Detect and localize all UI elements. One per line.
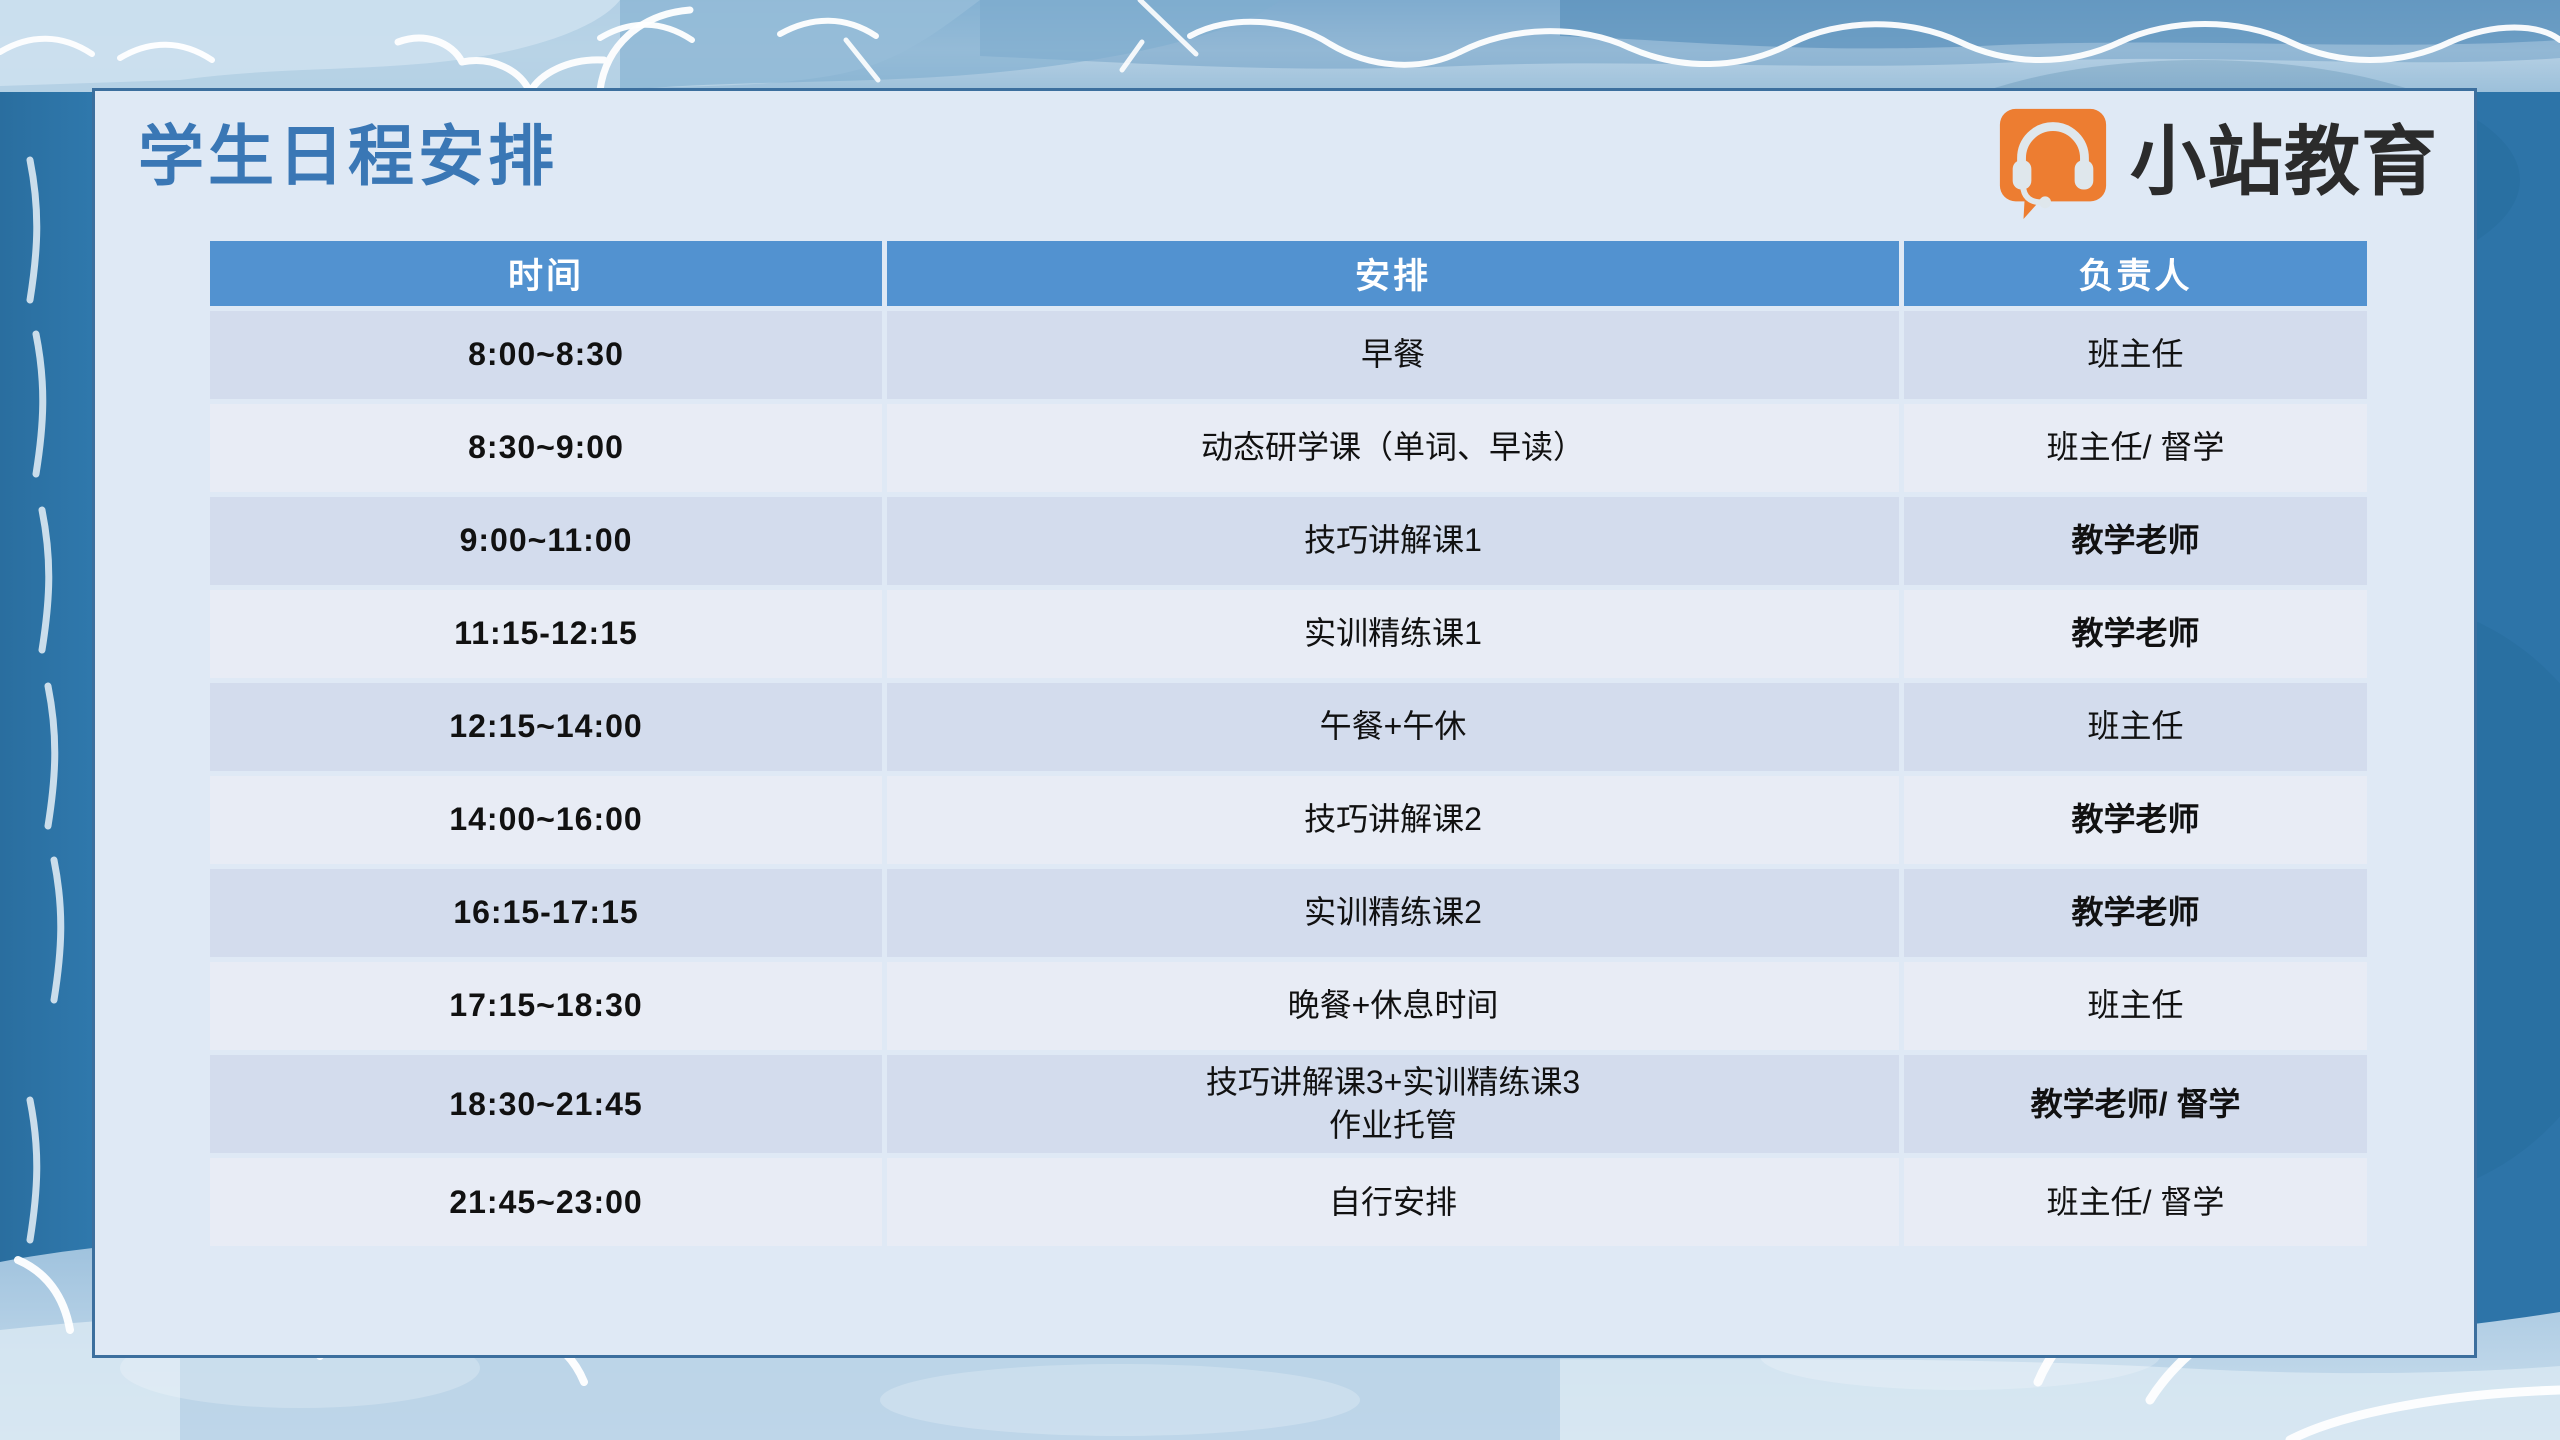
column-header-time: 时间: [210, 241, 882, 306]
cell-time: 14:00~16:00: [210, 776, 882, 864]
card-header: 学生日程安排 小站教育: [95, 91, 2474, 236]
brand-name: 小站教育: [2130, 124, 2438, 200]
cell-time: 8:00~8:30: [210, 311, 882, 399]
page-title: 学生日程安排: [138, 123, 558, 189]
cell-item: 技巧讲解课2: [887, 776, 1899, 864]
table-row: 21:45~23:00自行安排班主任/ 督学: [210, 1158, 2367, 1246]
column-header-item: 安排: [887, 241, 1899, 306]
cell-item: 晚餐+休息时间: [887, 962, 1899, 1050]
table-header-row: 时间 安排 负责人: [210, 241, 2367, 306]
cell-time: 17:15~18:30: [210, 962, 882, 1050]
cell-owner: 教学老师: [1904, 497, 2367, 585]
cell-item: 午餐+午休: [887, 683, 1899, 771]
cell-time: 11:15-12:15: [210, 590, 882, 678]
table-row: 8:00~8:30早餐班主任: [210, 311, 2367, 399]
cell-time: 21:45~23:00: [210, 1158, 882, 1246]
cell-owner: 教学老师: [1904, 590, 2367, 678]
column-header-owner: 负责人: [1904, 241, 2367, 306]
table-row: 9:00~11:00技巧讲解课1教学老师: [210, 497, 2367, 585]
cell-time: 9:00~11:00: [210, 497, 882, 585]
cell-owner: 班主任/ 督学: [1904, 1158, 2367, 1246]
cell-time: 16:15-17:15: [210, 869, 882, 957]
cell-time: 8:30~9:00: [210, 404, 882, 492]
cell-owner: 教学老师: [1904, 869, 2367, 957]
headset-speech-bubble-icon: [1994, 103, 2112, 221]
brand-logo: 小站教育: [1994, 103, 2438, 221]
cell-owner: 教学老师: [1904, 776, 2367, 864]
cell-item: 动态研学课（单词、早读）: [887, 404, 1899, 492]
cell-item: 技巧讲解课3+实训精练课3作业托管: [887, 1055, 1899, 1153]
cell-item: 技巧讲解课1: [887, 497, 1899, 585]
cell-owner: 班主任/ 督学: [1904, 404, 2367, 492]
table-row: 12:15~14:00午餐+午休班主任: [210, 683, 2367, 771]
cell-time: 18:30~21:45: [210, 1055, 882, 1153]
cell-owner: 班主任: [1904, 683, 2367, 771]
schedule-card: 学生日程安排 小站教育 时间 安排 负责人 8:00~8:30早餐班主任8:3: [92, 88, 2477, 1358]
cell-item: 早餐: [887, 311, 1899, 399]
schedule-body: 8:00~8:30早餐班主任8:30~9:00动态研学课（单词、早读）班主任/ …: [210, 311, 2367, 1246]
cell-owner: 班主任: [1904, 311, 2367, 399]
table-row: 8:30~9:00动态研学课（单词、早读）班主任/ 督学: [210, 404, 2367, 492]
cell-owner: 班主任: [1904, 962, 2367, 1050]
table-row: 14:00~16:00技巧讲解课2教学老师: [210, 776, 2367, 864]
schedule-table: 时间 安排 负责人 8:00~8:30早餐班主任8:30~9:00动态研学课（单…: [205, 236, 2372, 1251]
cell-item: 自行安排: [887, 1158, 1899, 1246]
table-row: 16:15-17:15实训精练课2教学老师: [210, 869, 2367, 957]
cell-item: 实训精练课1: [887, 590, 1899, 678]
cell-item: 实训精练课2: [887, 869, 1899, 957]
cell-owner: 教学老师/ 督学: [1904, 1055, 2367, 1153]
table-row: 18:30~21:45技巧讲解课3+实训精练课3作业托管教学老师/ 督学: [210, 1055, 2367, 1153]
cell-time: 12:15~14:00: [210, 683, 882, 771]
table-row: 11:15-12:15实训精练课1教学老师: [210, 590, 2367, 678]
table-row: 17:15~18:30晚餐+休息时间班主任: [210, 962, 2367, 1050]
